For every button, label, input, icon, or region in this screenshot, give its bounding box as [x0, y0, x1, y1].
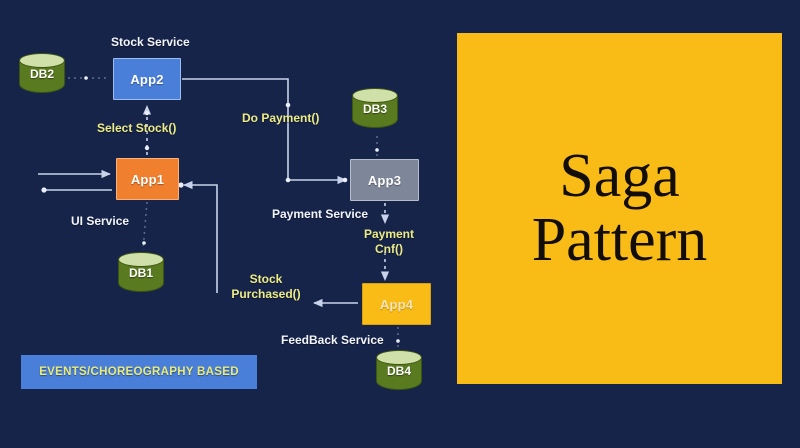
service-box-app2[interactable]: App2 — [113, 58, 181, 100]
cylinder-top — [118, 252, 164, 267]
database-db4[interactable]: DB4 — [376, 350, 422, 396]
service-label-stock-service: Stock Service — [111, 35, 190, 49]
legend-label: EVENTS/CHOREOGRAPHY BASED — [39, 366, 239, 378]
wire-app2-app3-do-payment — [182, 79, 347, 182]
cylinder-top — [19, 53, 65, 68]
database-db2[interactable]: DB2 — [19, 53, 65, 99]
title-line-2: Pattern — [532, 209, 708, 272]
app1-label: App1 — [131, 172, 164, 187]
db2-label: DB2 — [19, 67, 65, 81]
event-label-stock-purchased: Stock Purchased() — [222, 272, 310, 302]
db1-label: DB1 — [118, 266, 164, 280]
event-label-select-stock: Select Stock() — [97, 121, 176, 135]
db3-label: DB3 — [352, 102, 398, 116]
diagram-canvas: App2 (faint dotted link) --> — [0, 0, 800, 448]
database-db1[interactable]: DB1 — [118, 252, 164, 298]
database-db3[interactable]: DB3 — [352, 88, 398, 134]
service-label-feedback-service: FeedBack Service — [281, 333, 384, 347]
app4-label: App4 — [380, 297, 413, 312]
cylinder-top — [352, 88, 398, 103]
service-label-payment-service: Payment Service — [272, 207, 368, 221]
service-label-ui-service: UI Service — [71, 214, 129, 228]
legend-badge: EVENTS/CHOREOGRAPHY BASED — [21, 355, 257, 389]
app2-label: App2 — [130, 72, 163, 87]
wire-app3-db3 — [375, 136, 379, 157]
title-panel: Saga Pattern — [457, 33, 782, 384]
service-box-app1[interactable]: App1 — [116, 158, 179, 200]
wire-app4-db4 — [396, 327, 400, 348]
event-label-do-payment: Do Payment() — [242, 111, 319, 125]
wire-external-requests — [38, 174, 112, 193]
service-box-app4[interactable]: App4 — [362, 283, 431, 325]
app3-label: App3 — [368, 173, 401, 188]
event-label-payment-cnf: Payment Cnf() — [357, 227, 421, 257]
cylinder-top — [376, 350, 422, 365]
title-line-1: Saga — [559, 145, 680, 208]
db4-label: DB4 — [376, 364, 422, 378]
wire-app1-db1 — [142, 202, 147, 250]
service-box-app3[interactable]: App3 — [350, 159, 419, 201]
wire-db2-app2 — [68, 76, 110, 80]
